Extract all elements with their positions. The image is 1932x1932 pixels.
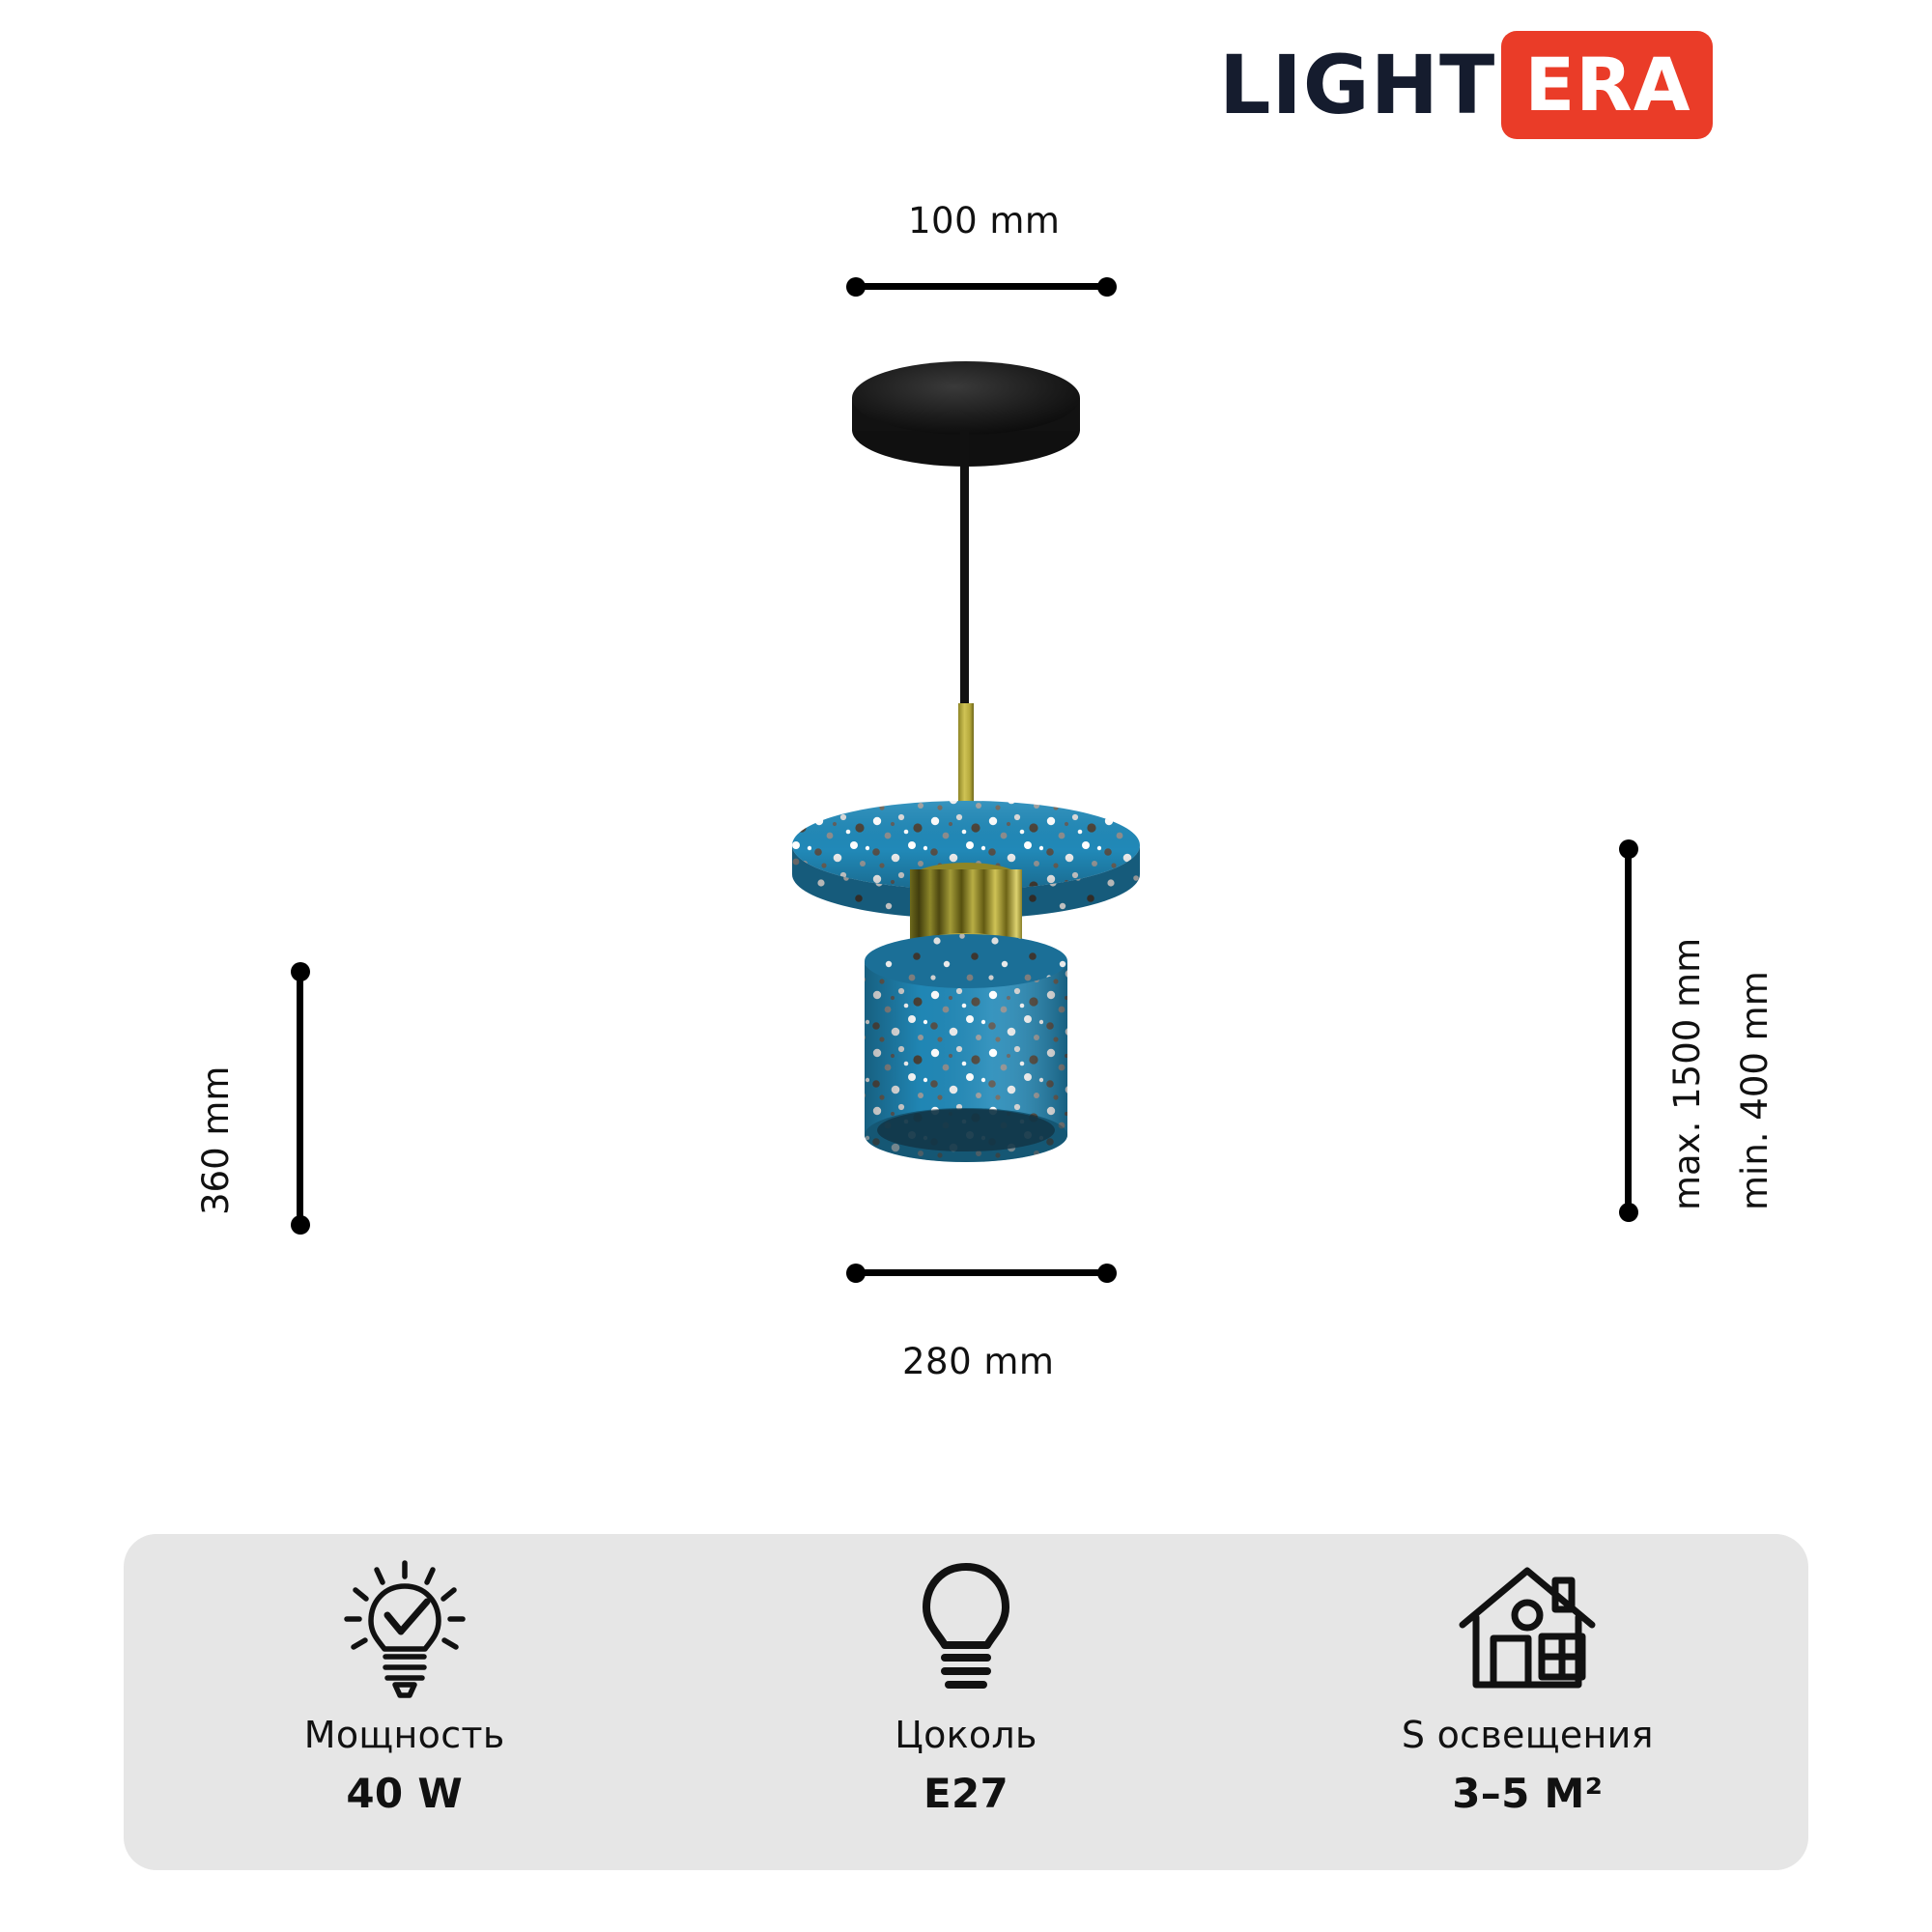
dimension-dot-height-bottom <box>291 1215 310 1235</box>
dimension-dot-top-right <box>1097 277 1117 297</box>
dimension-dot-bottom-left <box>846 1264 866 1283</box>
dimension-line-top-width <box>854 283 1113 290</box>
dimension-label-drop-min: min. 400 mm <box>1734 971 1776 1210</box>
brass-fluted-collar <box>910 863 1022 964</box>
house-icon <box>1453 1555 1602 1700</box>
bulb-check-icon <box>334 1555 475 1700</box>
specification-panel: Мощность 40 W Цоколь E27 <box>124 1534 1808 1870</box>
spec-title-area: S освещения <box>1402 1714 1654 1756</box>
spec-value-area: 3–5 M² <box>1452 1770 1603 1817</box>
dimension-dot-top-left <box>846 277 866 297</box>
spec-item-socket: Цоколь E27 <box>685 1534 1246 1817</box>
spec-value-power: 40 W <box>346 1770 463 1817</box>
dimension-dot-drop-bottom <box>1619 1203 1638 1222</box>
terrazzo-top-disc <box>792 801 1140 919</box>
dimension-label-drop-max: max. 1500 mm <box>1666 938 1708 1210</box>
logo-wordmark-era: ERA <box>1524 48 1690 122</box>
ceiling-canopy <box>852 361 1080 467</box>
bulb-icon <box>908 1555 1024 1700</box>
dimension-line-height <box>297 969 303 1226</box>
dimension-dot-height-top <box>291 962 310 981</box>
dimension-line-bottom-width <box>854 1269 1113 1276</box>
spec-title-power: Мощность <box>304 1714 505 1756</box>
brand-logo: LIGHT ERA <box>1219 31 1713 139</box>
spec-title-socket: Цоколь <box>895 1714 1037 1756</box>
dimension-line-drop <box>1625 848 1632 1209</box>
dimension-label-top-width: 100 mm <box>908 200 1060 241</box>
power-cord <box>960 430 969 710</box>
spec-item-area: S освещения 3–5 M² <box>1247 1534 1808 1817</box>
spec-item-power: Мощность 40 W <box>124 1534 685 1817</box>
dimension-dot-bottom-right <box>1097 1264 1117 1283</box>
brass-rod <box>958 703 974 846</box>
dimension-label-height: 360 mm <box>195 1066 237 1215</box>
spec-value-socket: E27 <box>923 1770 1009 1817</box>
dimension-dot-drop-top <box>1619 839 1638 859</box>
logo-badge-era: ERA <box>1501 31 1712 139</box>
terrazzo-cylinder-shade <box>865 934 1067 1162</box>
logo-wordmark-light: LIGHT <box>1219 44 1501 126</box>
dimension-label-bottom-width: 280 mm <box>902 1341 1054 1382</box>
